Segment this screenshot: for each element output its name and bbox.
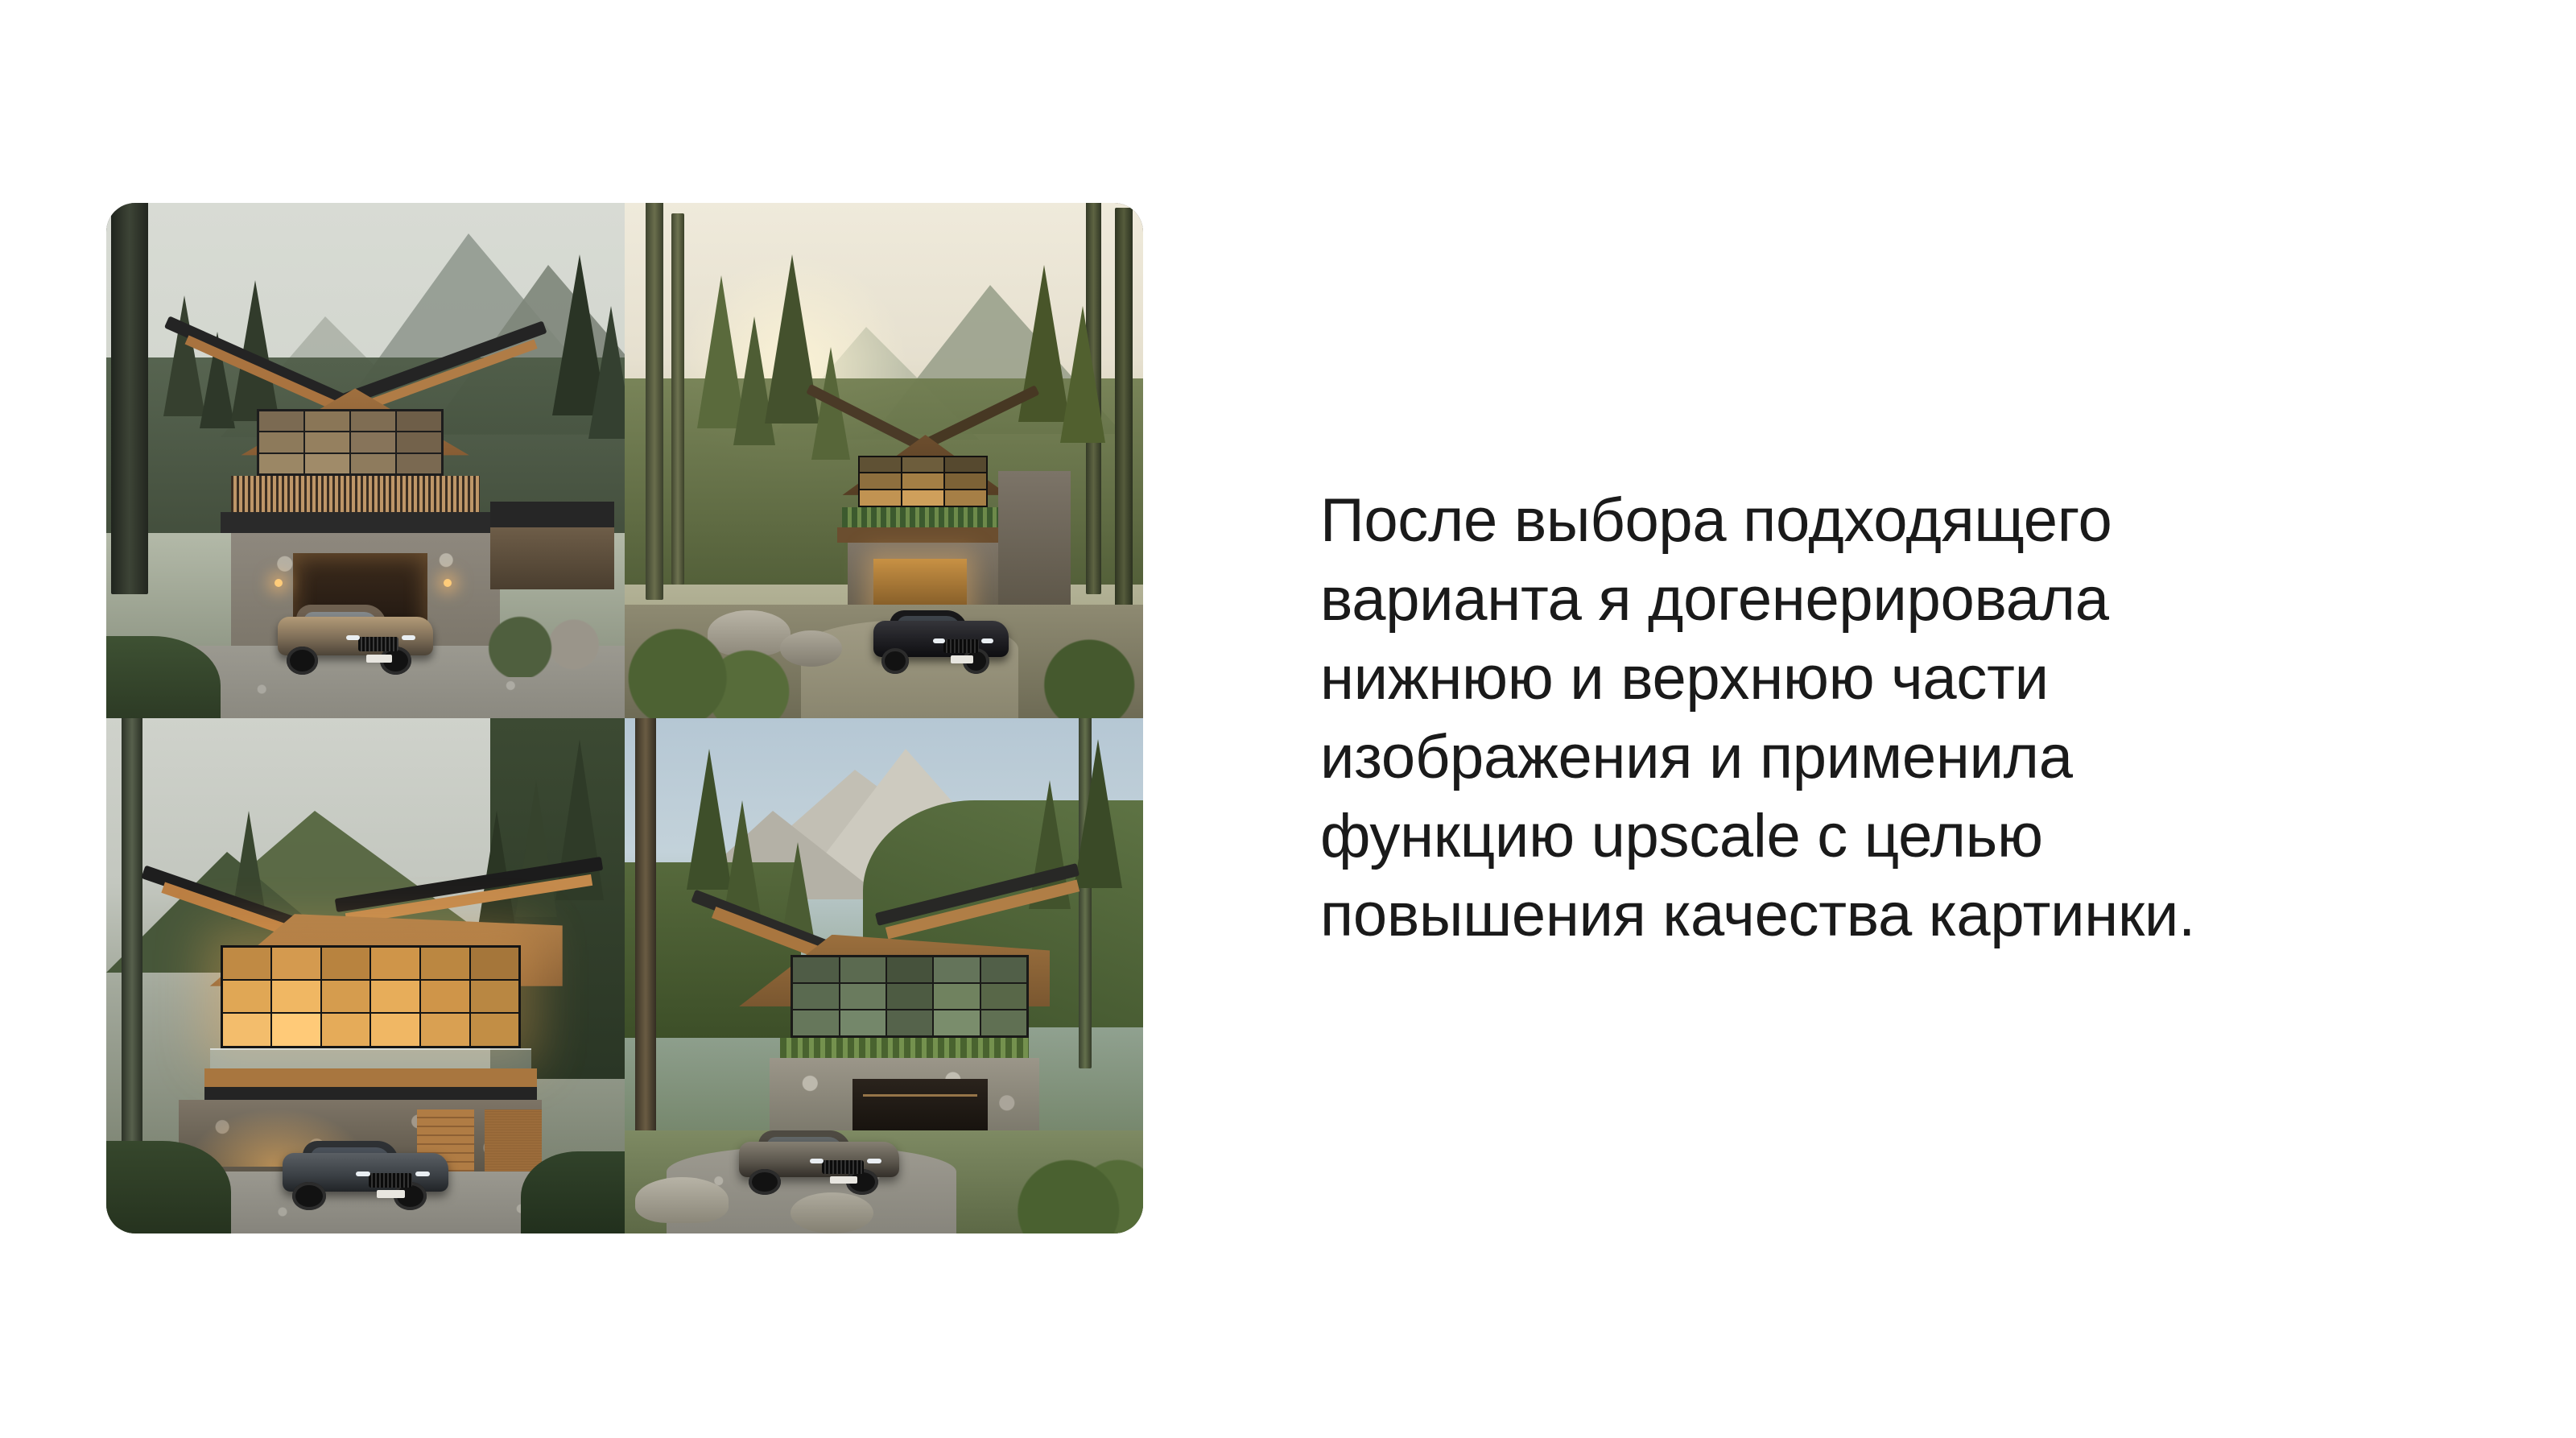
description-line-3: нижнюю и верхнюю части — [1320, 639, 2270, 718]
description-line-2: варианта я догенерировала — [1320, 560, 2270, 639]
rendered-car — [278, 605, 433, 671]
slide-description: После выбора подходящего варианта я доге… — [1320, 481, 2270, 955]
slide-root: После выбора подходящего варианта я доге… — [0, 0, 2576, 1438]
image-grid[interactable] — [106, 203, 1143, 1233]
rendered-car — [283, 1141, 448, 1208]
description-line-4: изображения и применила — [1320, 718, 2270, 797]
rendered-car — [873, 610, 1008, 672]
rendered-car — [739, 1130, 900, 1192]
grid-cell-bottom-right[interactable] — [625, 718, 1143, 1233]
grid-cell-top-right[interactable] — [625, 203, 1143, 718]
grid-cell-bottom-left[interactable] — [106, 718, 625, 1233]
description-line-6: повышения качества картинки. — [1320, 876, 2270, 955]
description-line-5: функцию upscale с целью — [1320, 797, 2270, 876]
grid-cell-top-left[interactable] — [106, 203, 625, 718]
description-line-1: После выбора подходящего — [1320, 481, 2270, 560]
